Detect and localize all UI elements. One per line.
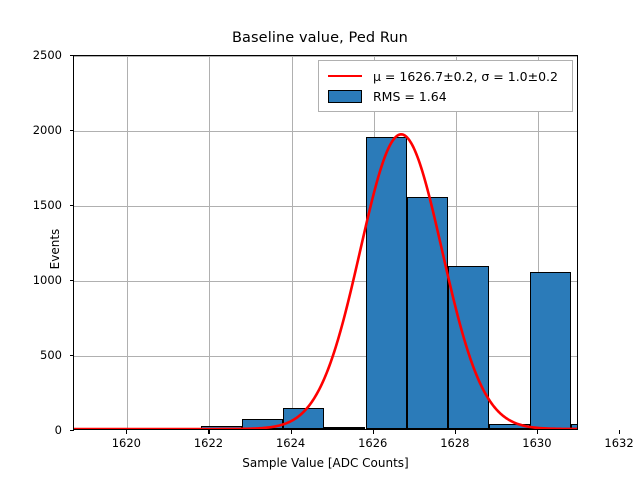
x-axis-tick-mark: [455, 430, 456, 434]
figure-canvas: Baseline value, Ped Run Events Sample Va…: [0, 0, 640, 480]
chart-legend: μ = 1626.7±0.2, σ = 1.0±0.2 RMS = 1.64: [318, 60, 573, 112]
x-axis-tick-label: 1624: [261, 436, 321, 450]
legend-label-fit: μ = 1626.7±0.2, σ = 1.0±0.2: [365, 69, 558, 84]
x-axis-tick-label: 1622: [178, 436, 238, 450]
x-axis-tick-mark: [537, 430, 538, 434]
x-axis-tick-label: 1630: [507, 436, 567, 450]
x-axis-label: Sample Value [ADC Counts]: [73, 456, 578, 470]
x-axis-tick-label: 1632: [589, 436, 640, 450]
legend-line-marker-icon: [325, 75, 365, 78]
legend-label-rms: RMS = 1.64: [365, 89, 447, 104]
y-axis-tick-mark: [70, 430, 74, 431]
x-axis-tick-mark: [126, 430, 127, 434]
legend-patch-marker-icon: [325, 90, 365, 103]
legend-item-fit: μ = 1626.7±0.2, σ = 1.0±0.2: [325, 66, 566, 86]
x-axis-tick-mark: [619, 430, 620, 434]
y-axis-tick-label: 0: [2, 423, 62, 437]
x-axis-tick-mark: [208, 430, 209, 434]
x-axis-tick-label: 1628: [425, 436, 485, 450]
x-axis-tick-mark: [373, 430, 374, 434]
y-axis-tick-label: 1000: [2, 273, 62, 287]
y-axis-tick-label: 2500: [2, 48, 62, 62]
x-axis-tick-label: 1620: [96, 436, 156, 450]
x-axis-tick-label: 1626: [343, 436, 403, 450]
legend-item-histogram: RMS = 1.64: [325, 86, 566, 106]
y-axis-tick-label: 500: [2, 348, 62, 362]
y-axis-tick-label: 1500: [2, 198, 62, 212]
x-axis-tick-mark: [291, 430, 292, 434]
chart-title: Baseline value, Ped Run: [0, 30, 640, 46]
y-axis-tick-label: 2000: [2, 123, 62, 137]
